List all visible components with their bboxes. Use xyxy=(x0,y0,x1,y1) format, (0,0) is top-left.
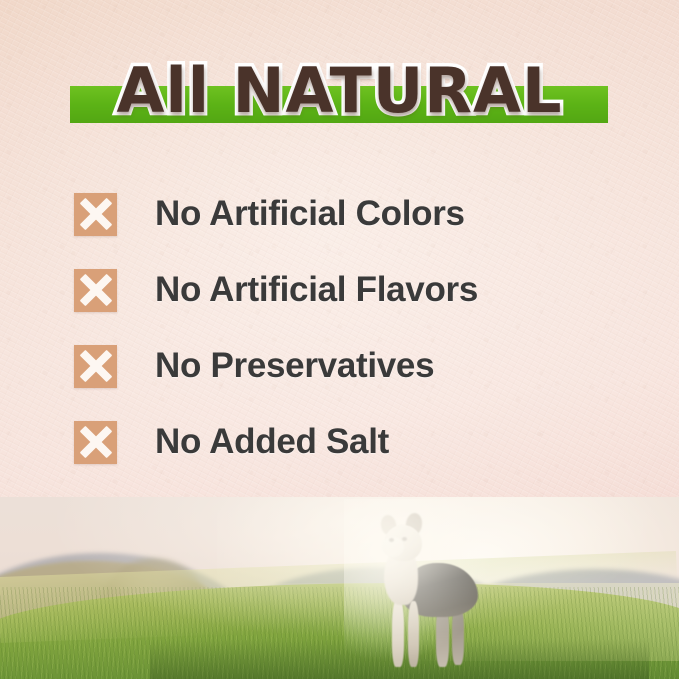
list-item: No Artificial Colors xyxy=(74,176,649,252)
border-collie-dog xyxy=(358,507,490,679)
page-title: All NATURAL xyxy=(0,52,679,130)
list-item: No Artificial Flavors xyxy=(74,252,649,328)
dog-front-leg-right xyxy=(408,601,419,667)
benefit-label: No Preservatives xyxy=(155,346,434,386)
dog-on-hillside-photo xyxy=(0,497,679,679)
x-mark-icon xyxy=(74,193,117,236)
list-item: No Preservatives xyxy=(74,328,649,404)
list-item: No Added Salt xyxy=(74,404,649,480)
dog-eye-left xyxy=(389,538,394,542)
benefits-list: No Artificial Colors No Artificial Flavo… xyxy=(74,176,649,480)
x-mark-icon xyxy=(74,345,117,388)
dog-front-leg-left xyxy=(392,599,404,667)
product-feature-poster: All NATURAL No Artificial Colors No Arti… xyxy=(0,0,679,679)
benefit-label: No Artificial Flavors xyxy=(155,270,478,310)
x-mark-icon xyxy=(74,269,117,312)
dog-eye-right xyxy=(402,537,407,541)
headline-banner: All NATURAL xyxy=(0,52,679,134)
benefit-label: No Added Salt xyxy=(155,422,389,462)
x-mark-icon xyxy=(74,421,117,464)
benefit-label: No Artificial Colors xyxy=(155,194,465,234)
